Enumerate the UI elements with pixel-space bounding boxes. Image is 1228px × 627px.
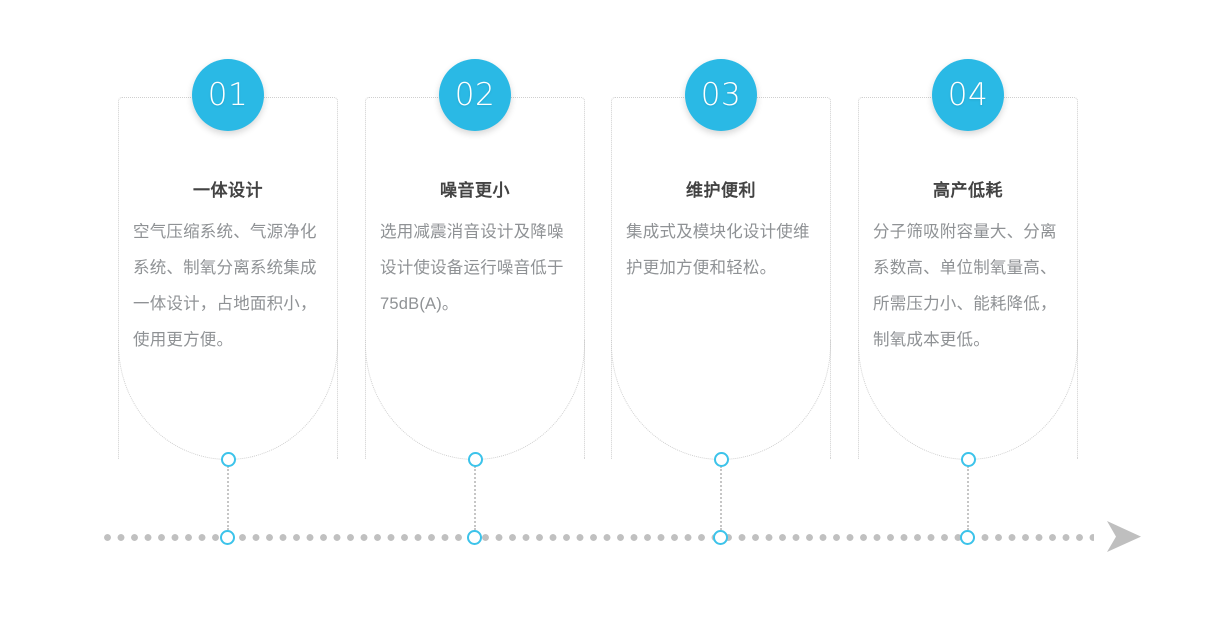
step-connector-3 bbox=[720, 466, 722, 530]
step-node-ring-2 bbox=[468, 452, 483, 467]
step-title-3: 维护便利 bbox=[612, 176, 830, 201]
card-bottom-curve-4 bbox=[858, 340, 1078, 460]
step-number-badge-2: 02 bbox=[439, 59, 511, 131]
step-body-3: 集成式及模块化设计使维护更加方便和轻松。 bbox=[626, 214, 818, 286]
step-node-ring-1 bbox=[221, 452, 236, 467]
step-node-ring-3 bbox=[714, 452, 729, 467]
step-node-ring-4 bbox=[961, 452, 976, 467]
step-connector-4 bbox=[967, 466, 969, 530]
step-title-2: 噪音更小 bbox=[366, 176, 584, 201]
step-body-4: 分子筛吸附容量大、分离系数高、单位制氧量高、所需压力小、能耗降低，制氧成本更低。 bbox=[873, 214, 1065, 358]
axis-node-ring-4 bbox=[960, 530, 975, 545]
step-card-4[interactable]: 04 高产低耗 分子筛吸附容量大、分离系数高、单位制氧量高、所需压力小、能耗降低… bbox=[858, 97, 1078, 459]
axis-node-ring-1 bbox=[220, 530, 235, 545]
step-title-1: 一体设计 bbox=[119, 176, 337, 201]
step-number-badge-3: 03 bbox=[685, 59, 757, 131]
step-title-4: 高产低耗 bbox=[859, 176, 1077, 201]
axis-node-ring-2 bbox=[467, 530, 482, 545]
card-bottom-curve-2 bbox=[365, 340, 585, 460]
step-number-badge-4: 04 bbox=[932, 59, 1004, 131]
timeline-infographic: 01 一体设计 空气压缩系统、气源净化系统、制氧分离系统集成一体设计，占地面积小… bbox=[0, 0, 1228, 627]
step-connector-2 bbox=[474, 466, 476, 530]
card-bottom-curve-3 bbox=[611, 340, 831, 460]
step-body-1: 空气压缩系统、气源净化系统、制氧分离系统集成一体设计，占地面积小，使用更方便。 bbox=[133, 214, 325, 358]
step-card-2[interactable]: 02 噪音更小 选用减震消音设计及降噪设计使设备运行噪音低于75dB(A)。 bbox=[365, 97, 585, 459]
step-connector-1 bbox=[227, 466, 229, 530]
timeline-dotted-line bbox=[104, 534, 1094, 541]
axis-node-ring-3 bbox=[713, 530, 728, 545]
timeline-axis bbox=[104, 530, 1094, 544]
step-number-4: 04 bbox=[948, 80, 988, 111]
step-card-1[interactable]: 01 一体设计 空气压缩系统、气源净化系统、制氧分离系统集成一体设计，占地面积小… bbox=[118, 97, 338, 459]
step-card-3[interactable]: 03 维护便利 集成式及模块化设计使维护更加方便和轻松。 bbox=[611, 97, 831, 459]
step-number-2: 02 bbox=[455, 80, 495, 111]
step-number-3: 03 bbox=[701, 80, 741, 111]
card-bottom-curve-1 bbox=[118, 340, 338, 460]
step-number-1: 01 bbox=[208, 80, 248, 111]
step-body-2: 选用减震消音设计及降噪设计使设备运行噪音低于75dB(A)。 bbox=[380, 214, 572, 322]
step-number-badge-1: 01 bbox=[192, 59, 264, 131]
